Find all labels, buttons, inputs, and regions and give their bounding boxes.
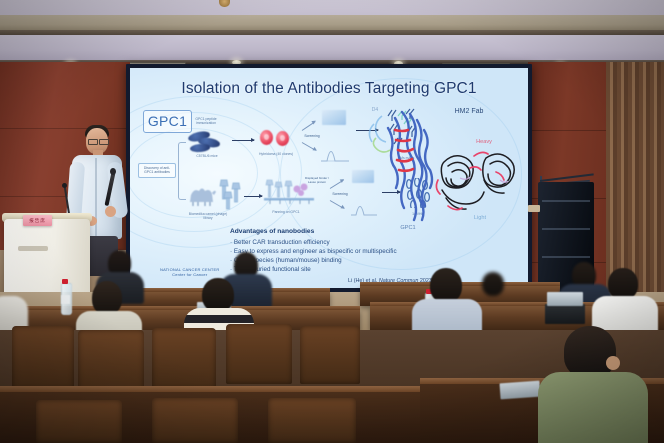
attendee-ear [606, 356, 620, 370]
conference-room-photo: Isolation of the Antibodies Targeting GP… [0, 0, 664, 443]
bottle-label [61, 295, 70, 304]
workflow-entry-box: Discovery of anti-GPC1 antibodies [138, 163, 176, 178]
hybridoma-label: Hybridoma (40 clones) [256, 152, 296, 156]
gpc1-structure-label: GPC1 [392, 226, 424, 230]
ceiling-upper-slab [0, 0, 664, 16]
light-chain-label: Light [466, 216, 494, 220]
slide-title: Isolation of the Antibodies Targeting GP… [130, 80, 528, 98]
wall-seam [528, 130, 610, 131]
ceiling-beam [0, 15, 664, 31]
av-rack-slot [542, 200, 590, 202]
screening-label: Screening [298, 134, 326, 138]
attendee-head [430, 268, 462, 303]
attendee-head [92, 281, 122, 315]
podium-nameplate: 报告席 [23, 215, 52, 226]
screening-plate [322, 110, 346, 125]
laptop [545, 304, 585, 324]
binder-label: Displayed binder / Lasso protein [304, 176, 330, 185]
bottle-cap [62, 279, 68, 284]
advantages-bullet-2: · Easy to express and engineer as bispec… [230, 248, 397, 257]
advantages-bullet-1: · Better CAR transduction efficiency [230, 239, 330, 248]
workflow-brace [178, 142, 186, 200]
chair-back [300, 326, 360, 384]
workflow-arrow [232, 140, 254, 141]
av-rack-slot [542, 228, 590, 230]
slide-gpc1-badge: GPC1 [143, 110, 192, 133]
laptop-screen [547, 292, 583, 306]
immunization-label: GPC1 peptide immunization [186, 117, 226, 126]
projection-screen: Isolation of the Antibodies Targeting GP… [130, 68, 528, 288]
wall-plate [528, 205, 540, 212]
attendee-head [202, 278, 234, 312]
chair-back [226, 324, 292, 384]
heavy-chain-label: Heavy [470, 140, 498, 144]
hybridoma-cell [260, 130, 273, 145]
microphone-head [110, 168, 116, 175]
panning-label: Panning on GPC1 [262, 210, 310, 214]
ceiling-panel [0, 35, 664, 62]
d4-domain-label: D4 [368, 108, 382, 112]
chair-back [152, 328, 216, 390]
phage-illustration [216, 178, 242, 212]
chair-back [152, 398, 238, 443]
speaker-glasses-left [88, 139, 98, 145]
national-cancer-center-logo: NATIONAL CANCER CENTER Center for Cancer [160, 267, 220, 278]
advantages-heading: Advantages of nanobodies [230, 228, 314, 235]
camel-illustration [186, 184, 218, 206]
hybridoma-cell [276, 131, 289, 146]
chair-back [268, 398, 356, 443]
chair-back [36, 400, 122, 443]
chair-back [12, 326, 74, 390]
screening-curve-chart [320, 140, 350, 162]
av-rack-slot [542, 256, 590, 258]
speaker-glasses-right [99, 139, 109, 145]
attendee-head [482, 272, 504, 296]
paper-document [499, 381, 540, 400]
speaker-right-hand [105, 206, 116, 217]
hm2-fab-label: HM2 Fab [448, 110, 490, 114]
attendee-olive-shirt [538, 372, 648, 443]
podium-microphone-head [62, 183, 67, 188]
podium-emblem [18, 246, 48, 251]
mice-label: C57BL/6 mice [186, 154, 228, 158]
library-label: Biomedika camel (phage) library [184, 212, 232, 221]
attendee-head [564, 326, 616, 378]
workflow-arrow [244, 196, 262, 197]
wall-seam [0, 128, 130, 129]
